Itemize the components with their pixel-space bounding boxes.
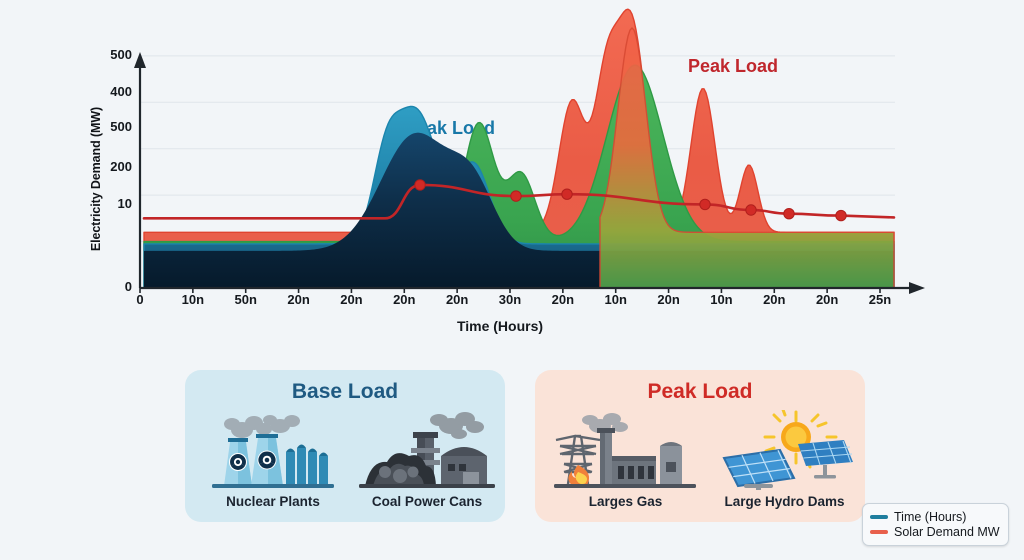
chart-legend[interactable]: Time (Hours) Solar Demand MW <box>862 503 1009 546</box>
legend-item[interactable]: Time (Hours) <box>870 509 1000 524</box>
chart-container: Electricity Demand (MW) Time (Hours) 500… <box>0 0 1024 345</box>
solar-panel-icon <box>702 410 867 490</box>
chart-plot <box>0 0 1024 345</box>
panel-base-load-title: Base Load <box>185 380 505 404</box>
nuclear-plant-icon <box>193 410 353 490</box>
legend-label: Solar Demand MW <box>894 525 1000 539</box>
infographic-root: Electricity Demand (MW) Time (Hours) 500… <box>0 0 1024 559</box>
solar-panel-front <box>724 450 794 490</box>
panel-base-load: Base Load <box>185 370 505 522</box>
panel-item-gas: Larges Gas <box>543 410 708 520</box>
panel-item-nuclear-plants: Nuclear Plants <box>193 410 353 520</box>
panel-peak-load-title: Peak Load <box>535 380 865 404</box>
gas-plant-icon <box>543 410 708 490</box>
panel-peak-load: Peak Load <box>535 370 865 522</box>
coal-plant-icon <box>347 410 507 490</box>
panel-item-hydro-dams: Large Hydro Dams <box>702 410 867 520</box>
legend-item[interactable]: Solar Demand MW <box>870 524 1000 539</box>
solar-panel-back <box>798 440 853 479</box>
legend-swatch <box>870 530 888 534</box>
panel-item-label: Coal Power Cans <box>333 494 521 509</box>
panel-item-label: Large Hydro Dams <box>688 494 881 509</box>
panel-item-coal-power: Coal Power Cans <box>347 410 507 520</box>
legend-label: Time (Hours) <box>894 510 966 524</box>
legend-swatch <box>870 515 888 519</box>
